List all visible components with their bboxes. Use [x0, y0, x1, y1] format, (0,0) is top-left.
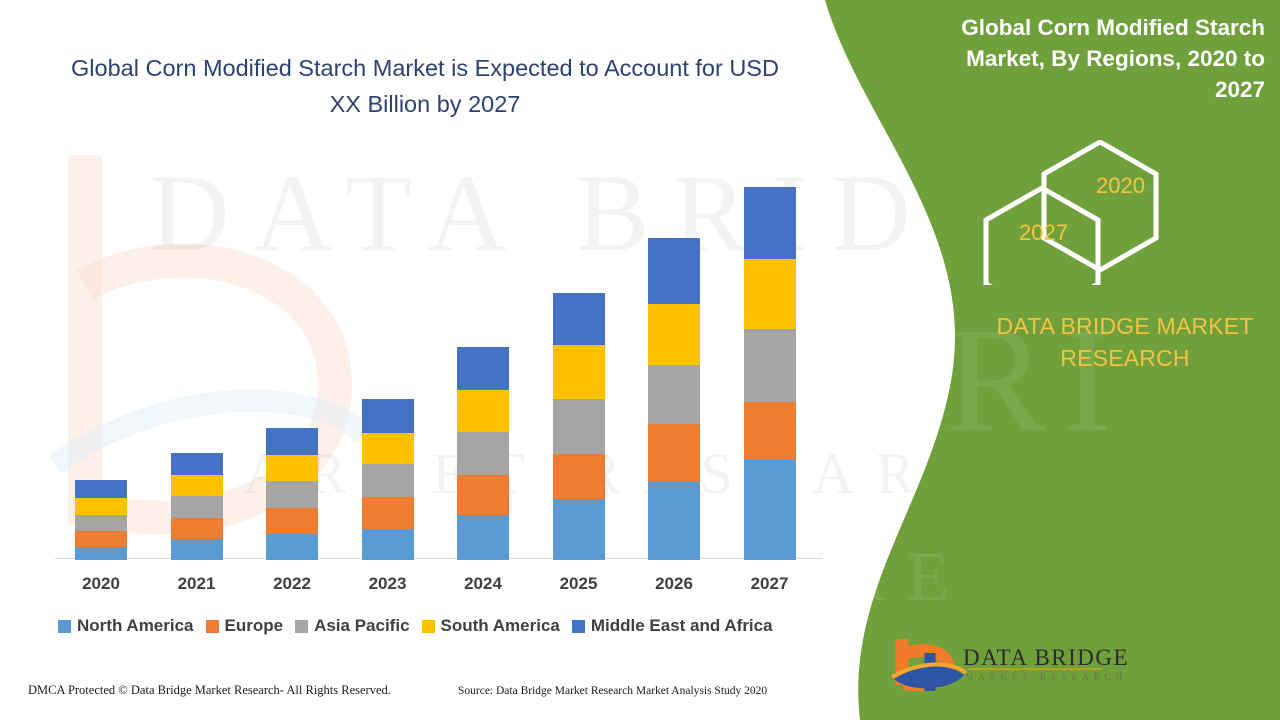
x-axis-label: 2026: [634, 574, 714, 594]
bar-segment: [362, 399, 414, 433]
legend-label: Europe: [225, 616, 284, 636]
bar-segment: [457, 347, 509, 390]
x-axis-label: 2024: [443, 574, 523, 594]
chart-legend: North AmericaEuropeAsia PacificSouth Ame…: [58, 616, 838, 636]
bar-segment: [744, 187, 796, 259]
bar-column: [457, 347, 509, 560]
x-axis-label: 2025: [539, 574, 619, 594]
bar-segment: [553, 399, 605, 454]
logo-wordmark: DATA BRIDGE: [963, 645, 1129, 671]
legend-swatch-icon: [206, 620, 219, 633]
bar-segment: [648, 304, 700, 365]
legend-label: North America: [77, 616, 194, 636]
x-axis-label: 2020: [61, 574, 141, 594]
bar-segment: [648, 365, 700, 424]
legend-swatch-icon: [572, 620, 585, 633]
x-axis-label: 2022: [252, 574, 332, 594]
hexagon-end-label: 2027: [1019, 220, 1068, 246]
legend-item[interactable]: Middle East and Africa: [572, 616, 773, 636]
bar-segment: [75, 547, 127, 560]
bar-segment: [744, 460, 796, 560]
chart-x-axis-labels: 20202021202220232024202520262027: [55, 574, 825, 600]
bar-column: [648, 238, 700, 560]
brand-name: DATA BRIDGE MARKET RESEARCH: [965, 310, 1280, 374]
bar-segment: [266, 428, 318, 455]
footer-copyright: DMCA Protected © Data Bridge Market Rese…: [28, 683, 391, 698]
bar-segment: [553, 454, 605, 499]
bar-segment: [553, 293, 605, 345]
bar-segment: [171, 496, 223, 518]
logo-tagline: MARKET RESEARCH: [965, 672, 1127, 682]
hexagon-pair-graphic: [980, 140, 1180, 285]
bar-segment: [457, 515, 509, 560]
bar-segment: [553, 345, 605, 399]
legend-label: Middle East and Africa: [591, 616, 773, 636]
bar-column: [744, 187, 796, 560]
legend-item[interactable]: Asia Pacific: [295, 616, 409, 636]
legend-label: Asia Pacific: [314, 616, 409, 636]
bar-segment: [75, 498, 127, 515]
bar-segment: [457, 475, 509, 515]
bar-segment: [553, 499, 605, 560]
bar-segment: [744, 329, 796, 402]
bar-segment: [648, 424, 700, 482]
bar-segment: [75, 531, 127, 547]
x-axis-label: 2021: [157, 574, 237, 594]
bar-segment: [744, 402, 796, 460]
panel-title: Global Corn Modified Starch Market, By R…: [925, 12, 1265, 105]
legend-item[interactable]: Europe: [206, 616, 284, 636]
bar-column: [266, 428, 318, 560]
stacked-bar-chart: [55, 150, 825, 560]
bar-segment: [266, 508, 318, 534]
bar-segment: [648, 482, 700, 560]
bar-segment: [648, 238, 700, 304]
bar-segment: [266, 481, 318, 508]
bar-segment: [75, 480, 127, 498]
page-title: Global Corn Modified Starch Market is Ex…: [55, 50, 795, 122]
bar-segment: [266, 534, 318, 560]
bar-segment: [362, 497, 414, 529]
footer-source: Source: Data Bridge Market Research Mark…: [458, 685, 767, 697]
legend-item[interactable]: North America: [58, 616, 194, 636]
infographic-slide: DATA BRIDGE MARKET RESEARCH BRI RE Globa…: [0, 0, 1280, 720]
legend-swatch-icon: [422, 620, 435, 633]
bar-segment: [171, 539, 223, 560]
hexagon-start-label: 2020: [1096, 173, 1145, 199]
bar-segment: [171, 475, 223, 496]
svg-text:RE: RE: [840, 539, 969, 616]
legend-item[interactable]: South America: [422, 616, 560, 636]
bar-segment: [744, 259, 796, 329]
bar-segment: [362, 433, 414, 464]
legend-swatch-icon: [295, 620, 308, 633]
bar-column: [75, 480, 127, 560]
bar-segment: [457, 432, 509, 475]
bar-column: [553, 293, 605, 560]
bar-column: [362, 399, 414, 560]
bar-segment: [457, 390, 509, 432]
bar-segment: [171, 518, 223, 539]
legend-label: South America: [441, 616, 560, 636]
bar-segment: [362, 529, 414, 560]
x-axis-label: 2023: [348, 574, 428, 594]
x-axis-label: 2027: [730, 574, 810, 594]
bar-column: [171, 453, 223, 560]
legend-swatch-icon: [58, 620, 71, 633]
bar-segment: [171, 453, 223, 475]
bar-segment: [266, 455, 318, 481]
bar-segment: [75, 515, 127, 531]
bar-segment: [362, 464, 414, 497]
